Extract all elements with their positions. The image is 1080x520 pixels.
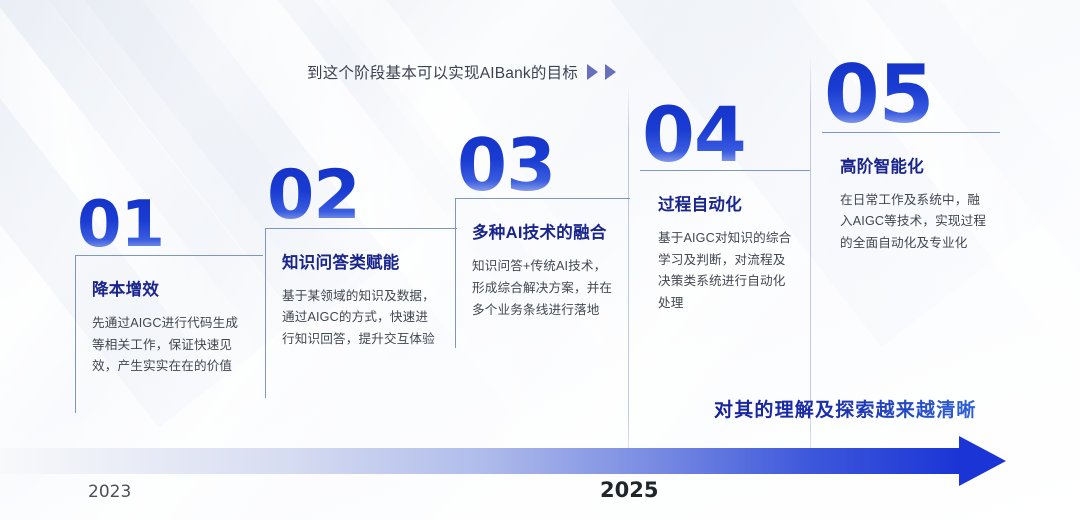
arrow-right-icon [959,436,1006,486]
stage-card-03: 多种AI技术的融合 知识问答+传统AI技术，形成综合解决方案，并在多个业务条线进… [455,198,630,348]
slide-canvas: 到这个阶段基本可以实现AIBank的目标 01 降本增效 先通过AIGC进行代码… [0,0,1080,520]
stage-card-04: 过程自动化 基于AIGC对知识的综合学习及判断，对流程及决策类系统进行自动化处理 [640,170,810,320]
chevron-right-solid-icon-2 [605,64,616,80]
timeline [0,440,1080,484]
header-note-text: 到这个阶段基本可以实现AIBank的目标 [307,61,578,83]
header-note: 到这个阶段基本可以实现AIBank的目标 [307,61,616,83]
stage-number-01: 01 [77,196,263,255]
stage-card-01: 降本增效 先通过AIGC进行代码生成等相关工作，保证快速见效，产生实实在在的价值 [75,255,263,413]
timeline-year-start: 2023 [88,482,131,502]
stage-card-02: 知识问答类赋能 基于某领域的知识及数据，通过AIGC的方式，快速进行知识回答，提… [265,228,457,398]
stage-number-05: 05 [824,58,1000,132]
stage-column-04[interactable]: 04 过程自动化 基于AIGC对知识的综合学习及判断，对流程及决策类系统进行自动… [640,100,810,320]
stage-title-05: 高阶智能化 [840,153,1000,177]
stage-column-02[interactable]: 02 知识问答类赋能 基于某领域的知识及数据，通过AIGC的方式，快速进行知识回… [265,165,457,398]
chevron-right-solid-icon [587,64,598,80]
stage-title-04: 过程自动化 [658,191,810,215]
stage-body-03: 知识问答+传统AI技术，形成综合解决方案，并在多个业务条线进行落地 [472,256,618,321]
stage-title-03: 多种AI技术的融合 [472,219,630,243]
timeline-bar [0,448,962,474]
slogan-text: 对其的理解及探索越来越清晰 [714,395,977,422]
stage-column-03[interactable]: 03 多种AI技术的融合 知识问答+传统AI技术，形成综合解决方案，并在多个业务… [455,132,630,348]
stage-title-01: 降本增效 [92,276,263,300]
timeline-year-mid: 2025 [600,478,658,502]
stage-body-05: 在日常工作及系统中，融入AIGC等技术，实现过程的全面自动化及专业化 [840,190,990,255]
stage-column-01[interactable]: 01 降本增效 先通过AIGC进行代码生成等相关工作，保证快速见效，产生实实在在… [75,196,263,413]
stage-title-02: 知识问答类赋能 [282,249,457,273]
stage-column-05[interactable]: 05 高阶智能化 在日常工作及系统中，融入AIGC等技术，实现过程的全面自动化及… [822,58,1000,282]
stage-number-03: 03 [457,132,630,198]
stage-body-04: 基于AIGC对知识的综合学习及判断，对流程及决策类系统进行自动化处理 [658,228,798,315]
stage-number-02: 02 [267,165,457,228]
stage-card-05: 高阶智能化 在日常工作及系统中，融入AIGC等技术，实现过程的全面自动化及专业化 [822,132,1000,282]
stage-body-01: 先通过AIGC进行代码生成等相关工作，保证快速见效，产生实实在在的价值 [92,313,244,378]
stage-number-04: 04 [642,100,810,170]
stage-body-02: 基于某领域的知识及数据，通过AIGC的方式，快速进行知识回答，提升交互体验 [282,286,440,351]
